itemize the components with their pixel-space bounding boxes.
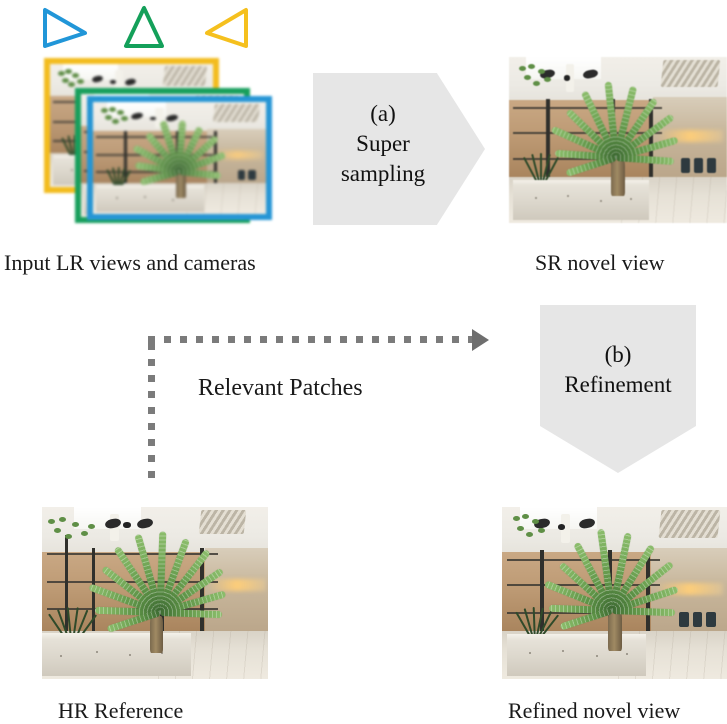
lr-view-frame-blue[interactable] [87, 96, 272, 220]
patch-path-arrowhead [472, 329, 489, 351]
stage-a-line1: Super [313, 129, 453, 159]
sr-novel-view-image[interactable] [509, 57, 727, 223]
hr-reference-caption: HR Reference [58, 698, 183, 724]
scene-render-lr-blue [93, 102, 266, 214]
camera-frustum-blue-icon [40, 6, 92, 50]
stage-b-line1: Refinement [540, 370, 696, 400]
refined-novel-view-caption: Refined novel view [508, 698, 680, 724]
refinement-label: (b) Refinement [540, 340, 696, 400]
patch-path-horizontal [148, 336, 474, 343]
camera-frustum-yellow-icon [200, 6, 254, 50]
sr-novel-view-caption: SR novel view [535, 250, 665, 276]
camera-frustum-green-icon [118, 4, 170, 50]
patch-path-vertical [148, 343, 155, 479]
relevant-patches-label: Relevant Patches [198, 375, 363, 401]
super-sampling-label: (a) Super sampling [313, 99, 453, 189]
scene-render-hr [42, 507, 268, 679]
stage-a-tag: (a) [313, 99, 453, 129]
input-views-caption: Input LR views and cameras [4, 250, 256, 276]
scene-render-refined [502, 507, 727, 679]
scene-render-sr [509, 57, 727, 223]
stage-b-tag: (b) [540, 340, 696, 370]
hr-reference-image[interactable] [42, 507, 268, 679]
stage-a-line2: sampling [313, 159, 453, 189]
refined-novel-view-image[interactable] [502, 507, 727, 679]
figure-canvas: Input LR views and cameras (a) Super sam… [0, 0, 727, 724]
